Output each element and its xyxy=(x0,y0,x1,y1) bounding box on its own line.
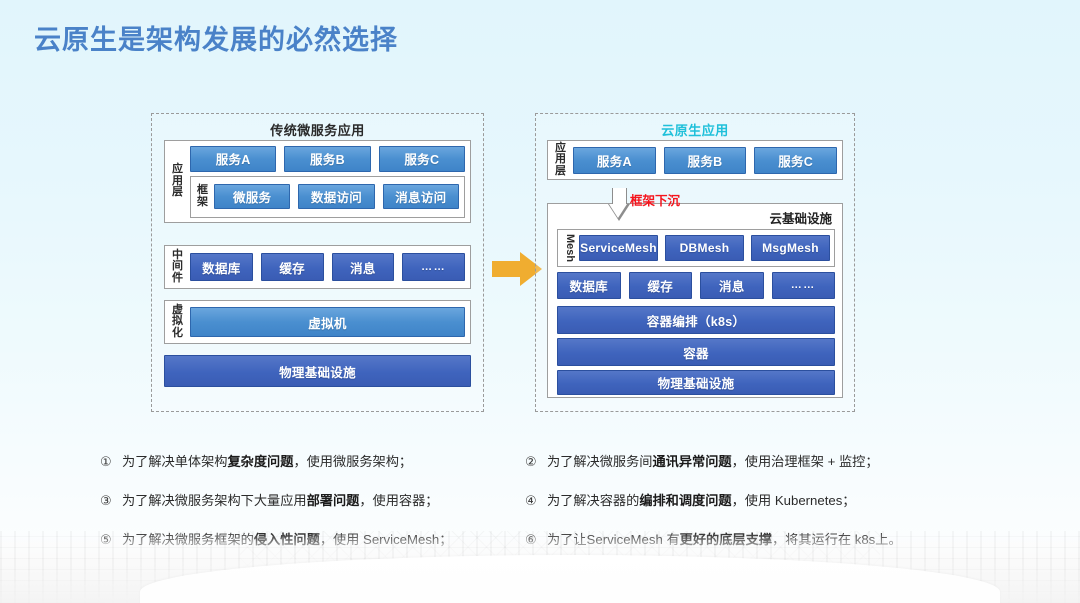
msg-mesh-box[interactable]: MsgMesh xyxy=(751,235,830,261)
bullet-text: 为了解决微服务架构下大量应用部署问题，使用容器； xyxy=(122,491,439,511)
container-orchestration-k8s[interactable]: 容器编排（k8s） xyxy=(557,306,835,334)
bullet-number: ② xyxy=(525,452,547,472)
left-framework-label: 框 架 xyxy=(195,185,210,208)
left-service-b[interactable]: 服务B xyxy=(284,146,370,172)
background-texture xyxy=(0,531,1080,603)
framework-sink-label: 框架下沉 xyxy=(630,190,680,209)
left-middleware-cache[interactable]: 缓存 xyxy=(261,253,324,281)
mesh-label: Mesh xyxy=(562,234,576,262)
bullet-text: 为了解决单体架构复杂度问题，使用微服务架构； xyxy=(122,452,412,472)
left-virtualization-label: 虚 拟 化 xyxy=(169,305,186,340)
cloud-native-panel: 云原生应用 应 用 层 服务A 服务B 服务C 云基础设施 Mesh Servi… xyxy=(535,113,855,412)
cloud-infrastructure-group: 云基础设施 Mesh ServiceMesh DBMesh MsgMesh 数据… xyxy=(547,203,843,398)
left-framework-message-access[interactable]: 消息访问 xyxy=(383,184,459,209)
left-panel-title: 传统微服务应用 xyxy=(152,120,483,139)
bullet-item: ② 为了解决微服务间通讯异常问题，使用治理框架 + 监控； xyxy=(525,452,965,472)
bullet-item: ① 为了解决单体架构复杂度问题，使用微服务架构； xyxy=(100,452,530,472)
cloud-infrastructure-heading: 云基础设施 xyxy=(769,208,832,227)
framework-sink-arrow-icon xyxy=(608,188,630,221)
bullet-item: ③ 为了解决微服务架构下大量应用部署问题，使用容器； xyxy=(100,491,530,511)
right-app-layer-label: 应 用 层 xyxy=(552,143,569,178)
bullet-text: 为了解决容器的编排和调度问题，使用 Kubernetes； xyxy=(547,491,856,511)
db-mesh-box[interactable]: DBMesh xyxy=(665,235,744,261)
left-virtualization-group: 虚 拟 化 虚拟机 xyxy=(164,300,471,344)
right-panel-title: 云原生应用 xyxy=(536,120,854,139)
left-middleware-more[interactable]: …… xyxy=(402,253,465,281)
left-middleware-group: 中 间 件 数据库 缓存 消息 …… xyxy=(164,245,471,289)
right-physical-infrastructure[interactable]: 物理基础设施 xyxy=(557,370,835,395)
left-middleware-database[interactable]: 数据库 xyxy=(190,253,253,281)
right-app-layer-group: 应 用 层 服务A 服务B 服务C xyxy=(547,140,843,180)
left-virtual-machine[interactable]: 虚拟机 xyxy=(190,307,465,337)
right-service-b[interactable]: 服务B xyxy=(664,147,747,174)
right-middleware-database[interactable]: 数据库 xyxy=(557,272,621,299)
right-service-a[interactable]: 服务A xyxy=(573,147,656,174)
left-framework-microservice[interactable]: 微服务 xyxy=(214,184,290,209)
left-middleware-label: 中 间 件 xyxy=(169,250,186,285)
left-framework-data-access[interactable]: 数据访问 xyxy=(298,184,374,209)
left-app-layer-group: 应 用 层 服务A 服务B 服务C 框 架 微服务 数据访问 消息访问 xyxy=(164,140,471,223)
mesh-row: Mesh ServiceMesh DBMesh MsgMesh xyxy=(557,229,835,267)
right-middleware-more[interactable]: …… xyxy=(772,272,836,299)
container-row[interactable]: 容器 xyxy=(557,338,835,366)
bullet-number: ③ xyxy=(100,491,122,511)
bullet-number: ① xyxy=(100,452,122,472)
right-service-c[interactable]: 服务C xyxy=(754,147,837,174)
right-middleware-cache[interactable]: 缓存 xyxy=(629,272,693,299)
bullet-text: 为了解决微服务间通讯异常问题，使用治理框架 + 监控； xyxy=(547,452,879,472)
left-service-c[interactable]: 服务C xyxy=(379,146,465,172)
left-middleware-message[interactable]: 消息 xyxy=(332,253,395,281)
bullet-number: ④ xyxy=(525,491,547,511)
left-app-layer-label: 应 用 层 xyxy=(169,164,186,199)
right-middleware-message[interactable]: 消息 xyxy=(700,272,764,299)
bullet-item: ④ 为了解决容器的编排和调度问题，使用 Kubernetes； xyxy=(525,491,965,511)
traditional-microservice-panel: 传统微服务应用 应 用 层 服务A 服务B 服务C 框 架 微服务 数据访问 xyxy=(151,113,484,412)
page-title: 云原生是架构发展的必然选择 xyxy=(34,18,398,57)
left-physical-infrastructure[interactable]: 物理基础设施 xyxy=(164,355,471,387)
left-service-a[interactable]: 服务A xyxy=(190,146,276,172)
service-mesh-box[interactable]: ServiceMesh xyxy=(579,235,658,261)
left-framework-box: 框 架 微服务 数据访问 消息访问 xyxy=(190,176,465,218)
